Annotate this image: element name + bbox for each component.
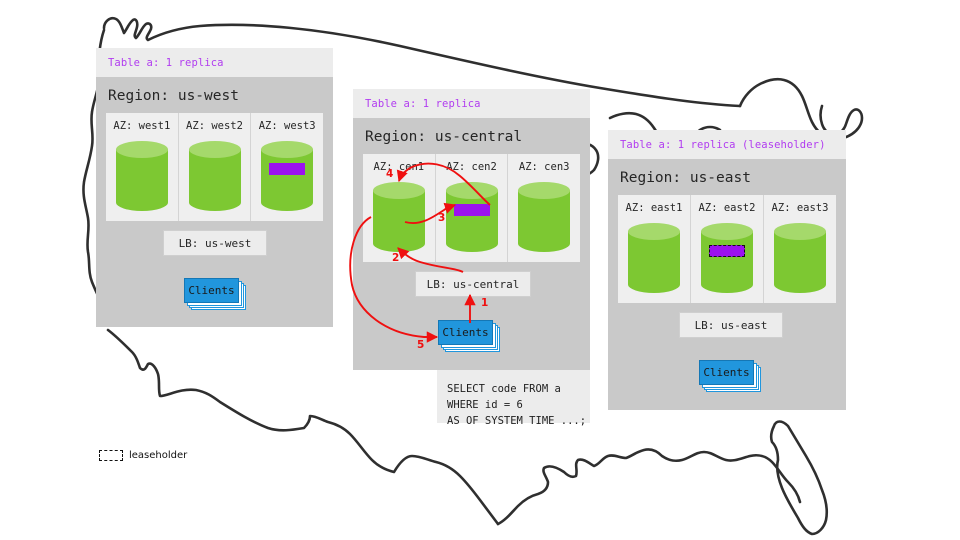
node-cylinder-west1[interactable] — [116, 141, 168, 211]
az-cell-east1[interactable]: AZ: east1 — [618, 195, 691, 303]
region-replica-label-us-central: Table a: 1 replica — [353, 89, 590, 118]
az-cell-cen3[interactable]: AZ: cen3 — [508, 154, 580, 262]
cylinder-top — [116, 141, 168, 158]
region-replica-label-us-west: Table a: 1 replica — [96, 48, 333, 77]
region-title-us-east: Region: us-east — [608, 159, 846, 195]
cylinder-body — [628, 231, 680, 293]
clients-stack-us-west[interactable]: Clients — [184, 278, 246, 310]
cylinder-top — [261, 141, 313, 158]
az-cell-cen2[interactable]: AZ: cen2 — [436, 154, 509, 262]
flow-step-number-3: 3 — [438, 212, 445, 224]
dashed-rectangle-icon — [99, 450, 123, 461]
cylinder-body — [774, 231, 826, 293]
node-cylinder-east3[interactable] — [774, 223, 826, 293]
az-label-west1: AZ: west1 — [106, 120, 178, 132]
cylinder-body — [518, 190, 570, 252]
clients-label-us-central[interactable]: Clients — [438, 320, 493, 345]
clients-stack-us-east[interactable]: Clients — [699, 360, 761, 392]
az-row-us-east: AZ: east1 AZ: east2 AZ: east3 — [618, 195, 836, 303]
region-panel-us-central: Table a: 1 replica Region: us-central AZ… — [353, 89, 590, 370]
cylinder-top — [518, 182, 570, 199]
region-replica-label-us-east: Table a: 1 replica (leaseholder) — [608, 130, 846, 159]
flow-step-number-4: 4 — [386, 168, 393, 180]
legend-label: leaseholder — [129, 450, 187, 461]
load-balancer-us-east[interactable]: LB: us-east — [679, 312, 783, 338]
az-label-east3: AZ: east3 — [764, 202, 836, 214]
cylinder-top — [189, 141, 241, 158]
node-cylinder-cen1[interactable] — [373, 182, 425, 252]
az-cell-west2[interactable]: AZ: west2 — [179, 113, 252, 221]
cylinder-body — [189, 149, 241, 211]
range-replica-bar-cen2[interactable] — [454, 204, 490, 216]
region-panel-us-west: Table a: 1 replica Region: us-west AZ: w… — [96, 48, 333, 327]
cylinder-body — [261, 149, 313, 211]
cylinder-top — [628, 223, 680, 240]
legend-leaseholder: leaseholder — [99, 450, 187, 461]
az-label-west3: AZ: west3 — [251, 120, 323, 132]
range-leaseholder-bar-east2[interactable] — [709, 245, 745, 257]
region-title-us-west: Region: us-west — [96, 77, 333, 113]
node-cylinder-cen2[interactable] — [446, 182, 498, 252]
flow-step-number-5: 5 — [417, 339, 424, 351]
clients-label-us-west[interactable]: Clients — [184, 278, 239, 303]
cylinder-top — [774, 223, 826, 240]
node-cylinder-cen3[interactable] — [518, 182, 570, 252]
az-row-us-west: AZ: west1 AZ: west2 AZ: west3 — [106, 113, 323, 221]
clients-stack-us-central[interactable]: Clients — [438, 320, 500, 352]
cylinder-body — [701, 231, 753, 293]
cylinder-body — [373, 190, 425, 252]
node-cylinder-west3[interactable] — [261, 141, 313, 211]
az-label-east2: AZ: east2 — [691, 202, 763, 214]
region-title-us-central: Region: us-central — [353, 118, 590, 154]
az-cell-cen1[interactable]: AZ: cen1 — [363, 154, 436, 262]
cylinder-top — [701, 223, 753, 240]
region-panel-us-east: Table a: 1 replica (leaseholder) Region:… — [608, 130, 846, 410]
az-label-west2: AZ: west2 — [179, 120, 251, 132]
load-balancer-us-central[interactable]: LB: us-central — [415, 271, 531, 297]
cylinder-top — [446, 182, 498, 199]
az-cell-west3[interactable]: AZ: west3 — [251, 113, 323, 221]
cylinder-body — [446, 190, 498, 252]
az-cell-east3[interactable]: AZ: east3 — [764, 195, 836, 303]
az-label-cen2: AZ: cen2 — [436, 161, 508, 173]
node-cylinder-east1[interactable] — [628, 223, 680, 293]
az-cell-west1[interactable]: AZ: west1 — [106, 113, 179, 221]
az-row-us-central: AZ: cen1 AZ: cen2 AZ: cen3 — [363, 154, 580, 262]
az-label-cen3: AZ: cen3 — [508, 161, 580, 173]
clients-label-us-east[interactable]: Clients — [699, 360, 754, 385]
az-cell-east2[interactable]: AZ: east2 — [691, 195, 764, 303]
diagram-canvas: Table a: 1 replica Region: us-west AZ: w… — [0, 0, 960, 540]
flow-step-number-2: 2 — [392, 252, 399, 264]
load-balancer-us-west[interactable]: LB: us-west — [163, 230, 267, 256]
flow-step-number-1: 1 — [481, 297, 488, 309]
node-cylinder-west2[interactable] — [189, 141, 241, 211]
node-cylinder-east2[interactable] — [701, 223, 753, 293]
cylinder-top — [373, 182, 425, 199]
az-label-east1: AZ: east1 — [618, 202, 690, 214]
sql-query-box: SELECT code FROM a WHERE id = 6 AS OF SY… — [437, 370, 590, 423]
az-label-cen1: AZ: cen1 — [363, 161, 435, 173]
range-replica-bar-west3[interactable] — [269, 163, 305, 175]
cylinder-body — [116, 149, 168, 211]
